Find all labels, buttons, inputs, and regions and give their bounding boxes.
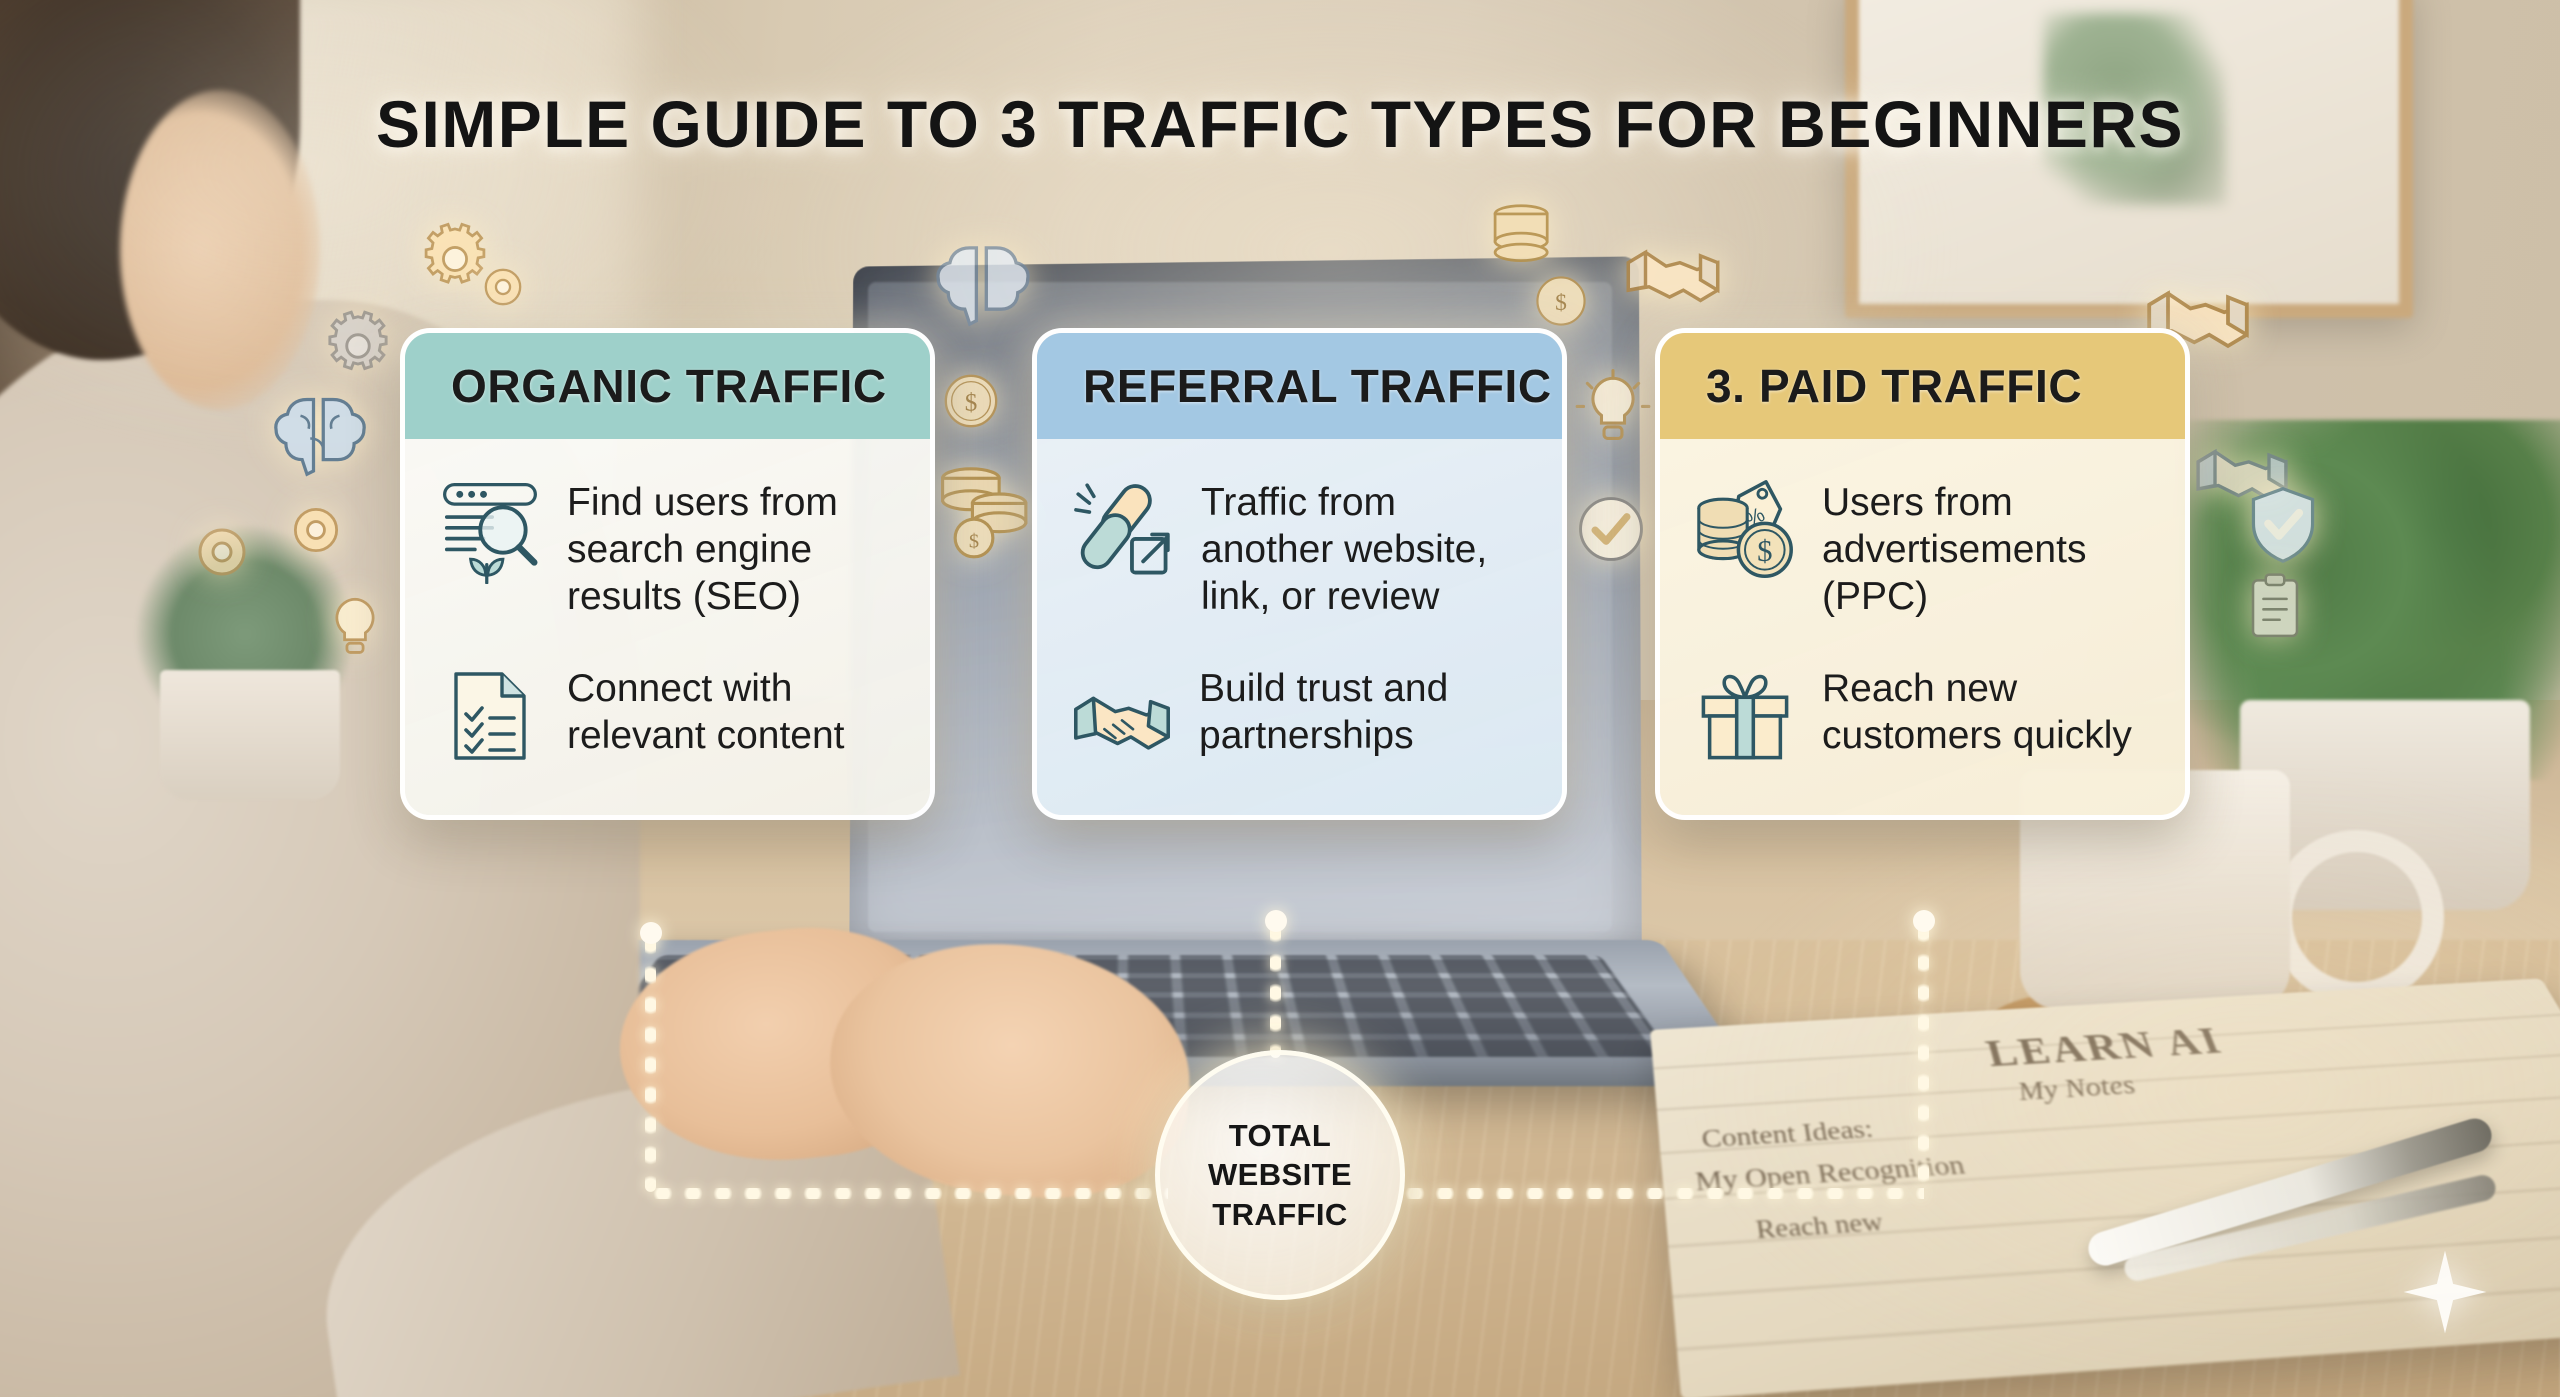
gear-icon [286, 500, 346, 560]
connector-node-referral [1265, 910, 1287, 932]
hub-line-2: WEBSITE [1208, 1157, 1352, 1192]
total-website-traffic-hub[interactable]: TOTAL WEBSITE TRAFFIC [1155, 1050, 1405, 1300]
list-item-text: Users from advertisements (PPC) [1822, 475, 2151, 621]
mug-handle [2270, 830, 2444, 1004]
gear-icon [322, 310, 394, 382]
svg-text:$: $ [965, 390, 978, 417]
card-paid-body: % $ Users from advertisements (PPC) [1660, 439, 2185, 815]
hub-line-1: TOTAL [1229, 1118, 1331, 1153]
card-organic-header: ORGANIC TRAFFIC [405, 333, 930, 439]
lightbulb-icon [1572, 368, 1654, 450]
connector-organic-horizontal [648, 1188, 1168, 1199]
gear-icon [478, 262, 528, 312]
connector-node-organic [640, 922, 662, 944]
clipboard-icon [2238, 570, 2312, 644]
lightbulb-icon [318, 590, 392, 664]
list-item: Traffic from another website, link, or r… [1067, 475, 1528, 621]
list-item-text: Reach new customers quickly [1822, 661, 2151, 759]
succulent-pot [160, 670, 340, 800]
card-organic-traffic[interactable]: ORGANIC TRAFFIC Find users from search [400, 328, 935, 820]
svg-text:$: $ [1757, 534, 1772, 568]
card-paid-traffic[interactable]: 3. PAID TRAFFIC % [1655, 328, 2190, 820]
list-item-text: Build trust and partnerships [1199, 661, 1528, 759]
search-seo-icon [435, 475, 545, 585]
card-referral-body: Traffic from another website, link, or r… [1037, 439, 1562, 815]
card-paid-title: 3. PAID TRAFFIC [1706, 359, 2082, 413]
card-referral-traffic[interactable]: REFERRAL TRAFFIC Traffic from another we… [1032, 328, 1567, 820]
connector-organic-vertical [645, 930, 656, 1192]
brain-icon [268, 380, 372, 484]
brain-icon [930, 228, 1036, 334]
list-item-text: Find users from search engine results (S… [567, 475, 896, 621]
coins-price-tag-icon: % $ [1690, 475, 1800, 585]
card-referral-title: REFERRAL TRAFFIC [1083, 359, 1552, 413]
connector-referral-vertical [1270, 918, 1281, 1058]
connector-node-paid [1913, 910, 1935, 932]
dollar-coin-icon: $ [1532, 272, 1590, 330]
list-item: Build trust and partnerships [1067, 661, 1528, 771]
connector-paid-vertical [1918, 918, 1929, 1188]
coin-stack-icon: $ [930, 450, 1040, 560]
list-item: Find users from search engine results (S… [435, 475, 896, 621]
list-item-text: Connect with relevant content [567, 661, 896, 759]
hub-line-3: TRAFFIC [1212, 1197, 1347, 1232]
handshake-icon [1067, 661, 1177, 771]
checklist-document-icon [435, 661, 545, 771]
page-title: SIMPLE GUIDE TO 3 TRAFFIC TYPES FOR BEGI… [0, 86, 2560, 162]
card-referral-header: REFERRAL TRAFFIC [1037, 333, 1562, 439]
list-item: % $ Users from advertisements (PPC) [1690, 475, 2151, 621]
gear-icon [190, 520, 254, 584]
link-external-icon [1067, 475, 1179, 585]
dollar-coin-icon: $ [940, 370, 1002, 432]
list-item: Connect with relevant content [435, 661, 896, 771]
svg-text:$: $ [969, 530, 979, 552]
handshake-icon [1618, 218, 1728, 328]
sparkle-icon [2400, 1247, 2490, 1337]
card-organic-title: ORGANIC TRAFFIC [451, 359, 887, 413]
card-paid-header: 3. PAID TRAFFIC [1660, 333, 2185, 439]
connector-paid-horizontal [1400, 1188, 1924, 1199]
list-item: Reach new customers quickly [1690, 661, 2151, 771]
gift-box-icon [1690, 661, 1800, 771]
card-organic-body: Find users from search engine results (S… [405, 439, 930, 815]
list-item-text: Traffic from another website, link, or r… [1201, 475, 1528, 621]
check-circle-icon [1572, 490, 1650, 568]
shield-check-icon [2240, 482, 2326, 568]
svg-text:$: $ [1555, 290, 1567, 316]
